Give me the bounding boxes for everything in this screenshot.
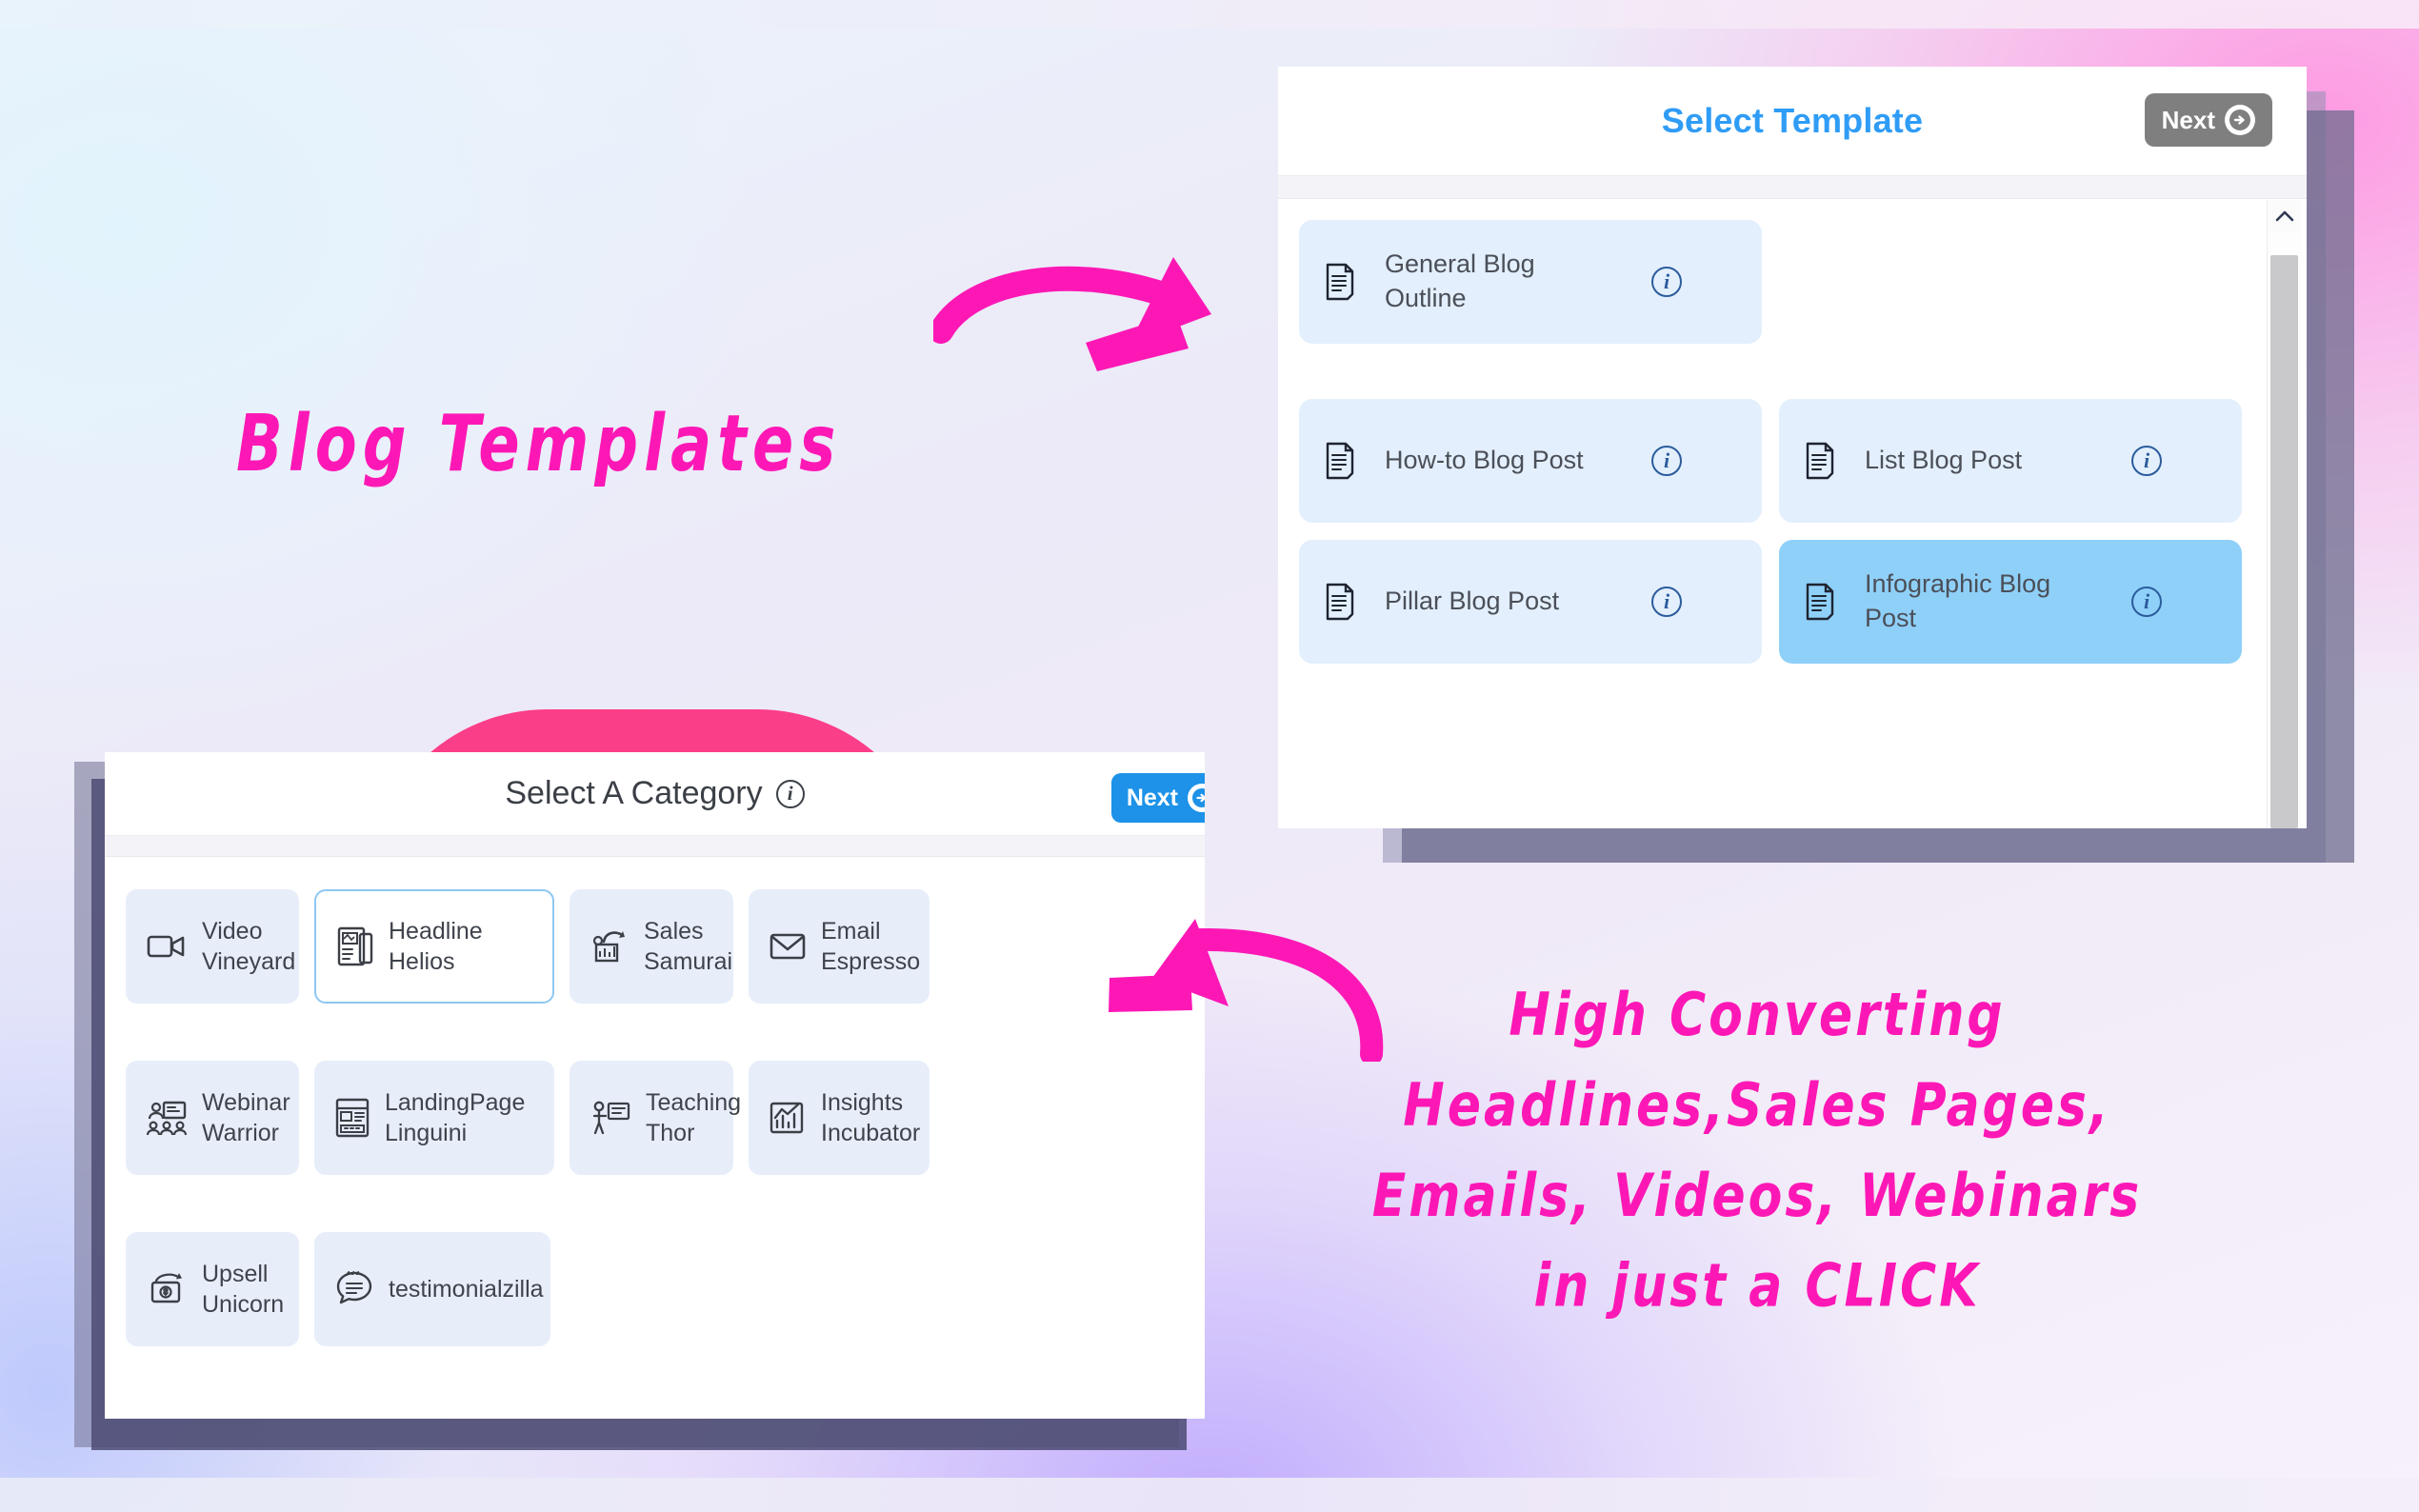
template-card-grid: General Blog Outlinei How-to Blog Posti … [1299,220,2265,664]
category-card[interactable]: WebinarWarrior [126,1061,299,1175]
document-icon [1324,583,1356,621]
template-card[interactable]: Pillar Blog Posti [1299,540,1762,664]
document-icon [1324,263,1356,301]
category-card-label: SalesSamurai [644,916,732,977]
document-icon [1324,442,1356,480]
select-template-dialog: Select Template Next General Blog Outlin… [1278,67,2307,828]
category-card-label: InsightsIncubator [821,1087,920,1148]
annotation-blog-templates: Blog Templates [236,400,841,490]
video-camera-icon [147,932,187,961]
template-cards-scroll-area[interactable]: General Blog Outlinei How-to Blog Posti … [1278,199,2307,827]
chevron-up-icon[interactable] [2268,200,2301,232]
curved-arrow-left-icon [1086,919,1400,1062]
category-card[interactable]: testimonialzilla [314,1232,550,1346]
headline-doc-icon [337,926,373,966]
template-row-spacer [1779,220,2242,344]
category-next-button[interactable]: Next [1111,773,1205,823]
background-top-band [0,0,2419,29]
insights-chart-icon [770,1101,806,1135]
category-dialog-title-text: Select A Category [505,775,762,812]
info-icon[interactable]: i [2131,587,2162,617]
category-dialog-header: Select A Category i Next [105,752,1205,836]
category-card-label: testimonialzilla [389,1274,544,1304]
info-icon[interactable]: i [2131,446,2162,476]
template-dialog-subbar [1278,176,2307,199]
template-row-divider [1299,361,2265,382]
arrow-right-circle-icon [2225,105,2255,135]
scrollbar-track[interactable] [2268,232,2301,828]
landing-page-icon [335,1098,370,1138]
category-card-label: EmailEspresso [821,916,920,977]
category-card[interactable]: UpsellUnicorn [126,1232,299,1346]
category-next-label: Next [1127,785,1178,812]
template-dialog-title: Select Template [1662,101,1923,141]
category-card[interactable]: LandingPageLinguini [314,1061,554,1175]
testimonial-icon [335,1270,373,1308]
category-card-label: TeachingThor [646,1087,741,1148]
category-card-label: WebinarWarrior [202,1087,290,1148]
category-card[interactable]: EmailEspresso [749,889,930,1004]
webinar-icon [147,1100,187,1136]
annotation-line-3: Emails, Videos, Webinars [1229,1152,2286,1243]
template-card-label: General Blog Outline [1385,248,1623,315]
template-card[interactable]: How-to Blog Posti [1299,399,1762,523]
category-card[interactable]: TeachingThor [570,1061,733,1175]
category-dialog-subbar [105,836,1205,857]
info-icon[interactable]: i [1651,587,1682,617]
info-icon[interactable]: i [1651,446,1682,476]
template-scrollbar[interactable] [2267,200,2301,828]
document-icon [1804,442,1836,480]
envelope-icon [770,932,806,961]
annotation-line-4: in just a CLICK [1229,1243,2286,1333]
document-icon [1804,583,1836,621]
category-card-label: LandingPageLinguini [385,1087,525,1148]
template-next-label: Next [2162,106,2215,135]
category-card[interactable]: Headline Helios [314,889,554,1004]
template-card[interactable]: Infographic Blog Posti [1779,540,2242,664]
upsell-money-icon [147,1272,187,1306]
info-icon[interactable]: i [776,780,805,808]
background-bottom-band [0,1478,2419,1512]
category-dialog-title: Select A Category i [505,775,804,812]
info-icon[interactable]: i [1651,267,1682,297]
curved-arrow-right-icon [933,257,1257,409]
scrollbar-thumb[interactable] [2270,255,2298,828]
annotation-line-2: Headlines,Sales Pages, [1229,1062,2286,1152]
category-card[interactable]: InsightsIncubator [749,1061,930,1175]
template-card-label: Infographic Blog Post [1865,567,2103,635]
template-card-label: How-to Blog Post [1385,444,1623,478]
template-card-label: List Blog Post [1865,444,2103,478]
category-card-grid: VideoVineyard Headline Helios SalesSamur… [126,889,1205,1346]
template-next-button[interactable]: Next [2145,93,2272,147]
teaching-icon [590,1100,630,1136]
template-dialog-header: Select Template Next [1278,67,2307,176]
template-card[interactable]: General Blog Outlinei [1299,220,1762,344]
template-card[interactable]: List Blog Posti [1779,399,2242,523]
category-card-label: VideoVineyard [202,916,295,977]
sales-chart-icon [590,929,629,964]
category-card[interactable]: VideoVineyard [126,889,299,1004]
category-card-label: UpsellUnicorn [202,1259,284,1320]
arrow-right-circle-icon [1188,784,1205,812]
category-card[interactable]: SalesSamurai [570,889,733,1004]
category-card-label: Headline Helios [389,916,531,977]
template-card-label: Pillar Blog Post [1385,585,1623,619]
select-category-dialog: Select A Category i Next VideoVineyard H… [105,752,1205,1419]
category-cards-area: VideoVineyard Headline Helios SalesSamur… [105,857,1205,1346]
